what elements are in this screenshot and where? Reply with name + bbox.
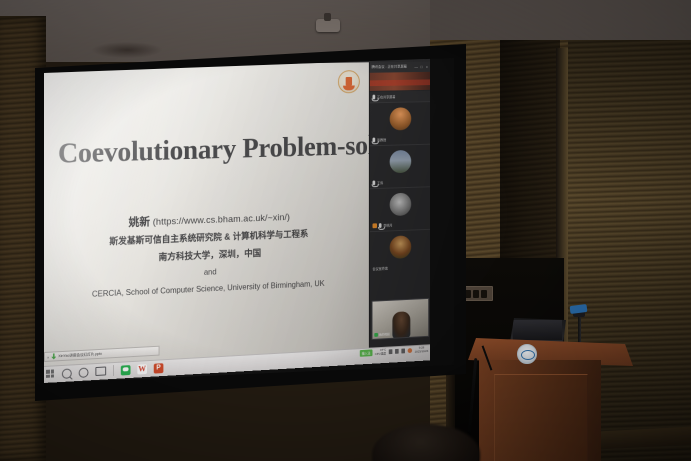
avatar [390,193,412,217]
taskbar-clock: 9:28 2023/10/26 [415,346,428,354]
ime-badge[interactable]: 输入法 [360,350,372,357]
avatar [390,235,412,259]
participant-name-row: 李明月 [373,223,393,229]
notification-icon[interactable] [408,348,412,353]
university-emblem-icon [517,344,537,364]
download-icon [51,353,56,359]
network-icon[interactable] [395,349,399,354]
logo-mark [346,77,352,86]
microphone-muted-icon [379,223,382,228]
chevron-up-icon[interactable] [389,349,393,354]
podium-front-panel [494,374,588,461]
search-icon[interactable] [62,368,72,379]
participant-name: 李明月 [383,223,392,228]
sustech-logo-icon [338,70,360,93]
author-url: (https://www.cs.bham.ac.uk/~xin/) [153,212,290,228]
projection-screen: 腾讯会议 Coevolutionary Problem-solving 姚新 (… [44,58,454,383]
microphone-icon [373,180,376,185]
participant-name: 会议室终端 [373,266,388,271]
participant-name-row: 王伟 [373,180,384,185]
participant-tile[interactable]: 张教授 [370,101,430,145]
switch-key[interactable] [481,290,487,298]
ceiling-shadow [92,42,162,58]
avatar [390,150,412,173]
microphone-active-icon [374,333,378,337]
download-filename: XinYao讲座会议幻灯片.pptx [58,351,102,358]
clock-date: 2023/10/26 [415,349,428,354]
cpu-temp-readout: 34°C CPU温度 [375,349,386,356]
self-view-video[interactable]: 我的视频 [372,298,429,340]
participant-name-row: 张教授 [373,137,387,142]
cortana-icon[interactable] [79,367,89,378]
participant-name-row: 会议室终端 [373,266,388,271]
author-name: 姚新 [129,216,151,229]
screen-share-preview[interactable] [370,72,430,91]
participant-name: 张教授 [377,137,386,142]
self-view-person [392,311,410,339]
maximize-button[interactable]: □ [419,64,423,69]
screen-share-label: 正在共享屏幕 [377,94,395,99]
microphone-icon [373,95,376,100]
taskbar-left-group: W P [46,362,163,380]
taskbar-divider [113,365,114,376]
wechat-icon[interactable] [121,365,131,375]
close-button[interactable]: × [425,64,429,69]
emblem-inner-ring [521,350,535,360]
cpu-temp-label: CPU温度 [375,351,386,355]
participant-tile[interactable]: 会议室终端 [370,229,430,274]
powerpoint-icon[interactable]: P [154,363,164,373]
close-icon[interactable]: × [47,354,49,359]
task-view-icon[interactable] [95,366,106,376]
avatar [390,107,412,130]
microphone-icon [373,138,376,143]
minimize-button[interactable]: — [414,64,418,69]
laptop-screen [513,320,562,340]
participant-tile[interactable]: 李明月 [370,186,430,231]
volume-icon[interactable] [401,349,405,354]
meeting-participant-sidebar: 腾讯会议 - 正在共享屏幕 — □ × 正在共享屏幕 张教授 [369,61,430,347]
self-view-name: 我的视频 [379,332,390,336]
powerpoint-slide: Coevolutionary Problem-solving 姚新 (https… [44,62,369,366]
computer-desktop: 腾讯会议 Coevolutionary Problem-solving 姚新 (… [44,58,430,383]
participant-tile[interactable]: 王伟 [370,144,430,189]
wps-icon[interactable]: W [137,364,147,374]
lecture-room-photo: 腾讯会议 Coevolutionary Problem-solving 姚新 (… [0,0,691,461]
start-icon[interactable] [46,369,55,379]
muted-badge-icon [373,223,378,228]
self-view-name-row: 我的视频 [374,332,389,337]
meeting-window-title: 腾讯会议 - 正在共享屏幕 [372,65,413,70]
slide-title: Coevolutionary Problem-solving [58,133,362,169]
taskbar-system-tray: 输入法 34°C CPU温度 9:28 2023/10/26 [360,346,428,357]
smoke-detector-icon [316,19,340,32]
switch-key[interactable] [473,290,479,298]
